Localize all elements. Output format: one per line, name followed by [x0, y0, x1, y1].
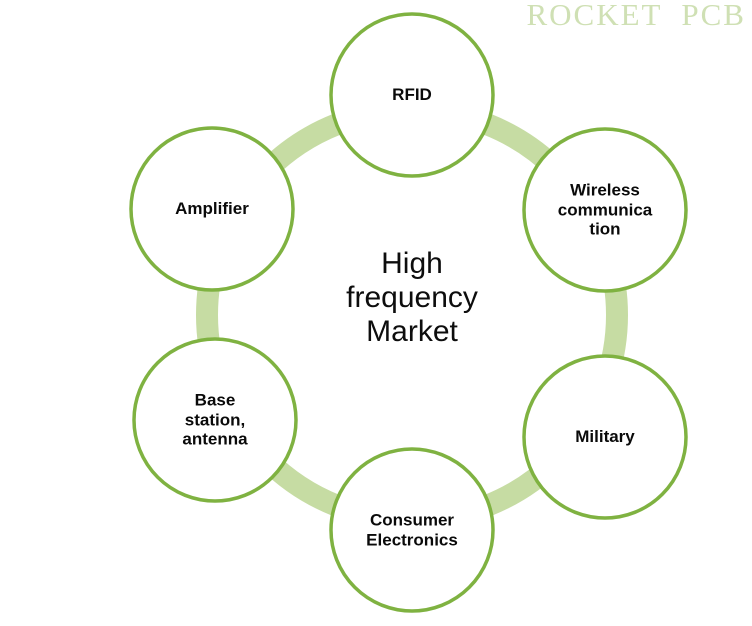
center-title-line-1: High: [381, 247, 443, 280]
node-circle-wireless-communication[interactable]: [524, 129, 686, 291]
center-title-line-3: Market: [366, 315, 458, 348]
node-circle-consumer-electronics[interactable]: [331, 449, 493, 611]
diagram-canvas: ROCKET PCB HighfrequencyMarket RFID Wire…: [0, 0, 752, 626]
node-circle-base-station-antenna[interactable]: [134, 339, 296, 501]
center-title: HighfrequencyMarket: [322, 247, 502, 349]
node-circle-military[interactable]: [524, 356, 686, 518]
rocket-pcb-watermark: ROCKET PCB: [526, 0, 746, 33]
center-title-line-2: frequency: [346, 281, 478, 314]
node-circle-amplifier[interactable]: [131, 128, 293, 290]
node-circle-rfid[interactable]: [331, 14, 493, 176]
